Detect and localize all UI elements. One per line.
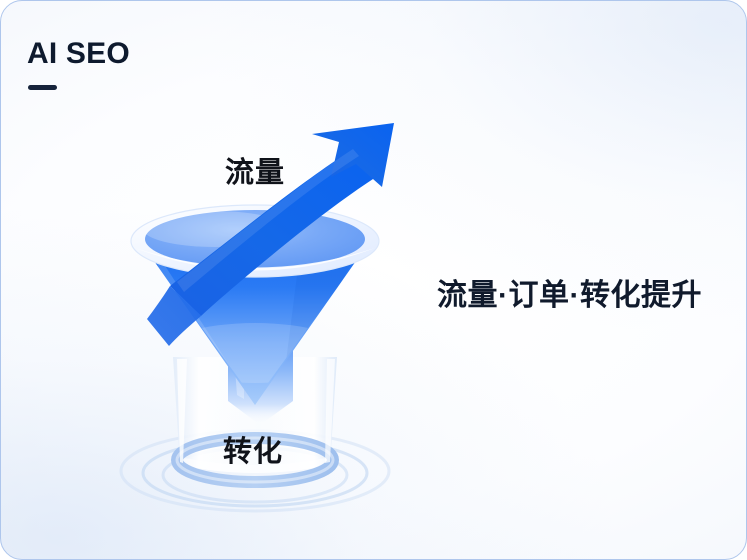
funnel-label-conversion: 转化 (223, 435, 283, 469)
ai-seo-card: AI SEO (0, 0, 747, 560)
funnel-label-traffic: 流量 (225, 156, 285, 190)
headline-text: 流量·订单·转化提升 (437, 275, 702, 317)
